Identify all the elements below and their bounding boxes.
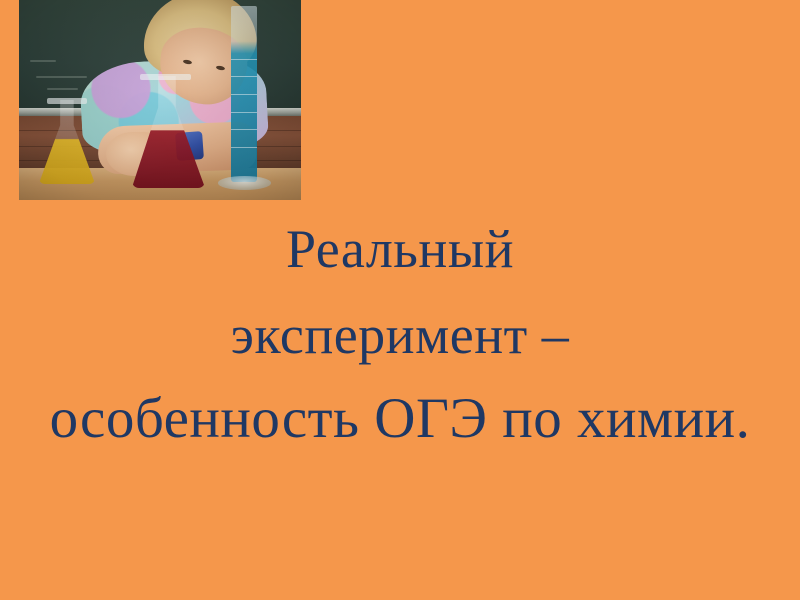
cylinder-tick <box>231 147 258 148</box>
title-line-3: особенность ОГЭ по химии. <box>0 378 800 460</box>
chalk-mark <box>47 88 78 90</box>
photo-canvas <box>19 0 301 200</box>
red-flask-rim <box>140 74 191 80</box>
presentation-slide: Реальный эксперимент – особенность ОГЭ п… <box>0 0 800 600</box>
chalk-mark <box>30 60 55 62</box>
slide-title: Реальный эксперимент – особенность ОГЭ п… <box>0 206 800 460</box>
cylinder-tick <box>231 94 258 95</box>
cylinder-tick <box>231 76 258 77</box>
cylinder-tick <box>231 59 258 60</box>
cylinder-tick <box>231 129 258 130</box>
yellow-flask-rim <box>47 98 86 104</box>
chemistry-experiment-photo <box>19 0 301 200</box>
chalk-mark <box>36 76 87 78</box>
cylinder-tick <box>231 112 258 113</box>
blue-graduated-cylinder <box>231 6 258 182</box>
cylinder-base <box>218 176 272 190</box>
title-line-1: Реальный <box>0 206 800 292</box>
title-line-2: эксперимент – <box>0 292 800 378</box>
